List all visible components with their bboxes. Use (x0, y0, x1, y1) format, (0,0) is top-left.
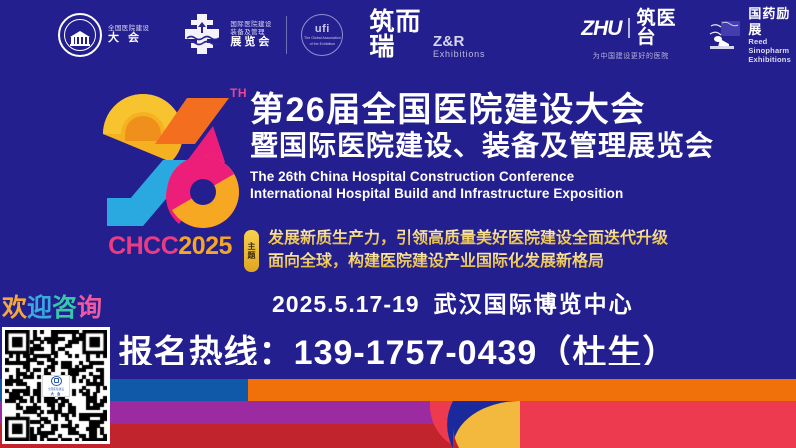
wordmark-chcc: CHCC (108, 232, 178, 260)
logo-conference-seal: 全国医院建设 大 会 (58, 13, 149, 57)
reed-en-label-2: Exhibitions (748, 55, 796, 64)
title-cn-secondary: 暨国际医院建设、装备及管理展览会 (250, 129, 790, 162)
title-en-line-1: The 26th China Hospital Construction Con… (250, 168, 790, 185)
theme-line-2: 面向全球，构建医院建设产业国际化发展新格局 (268, 251, 668, 274)
logo-reed-sinopharm: 国药励展 Reed Sinopharm Exhibitions (708, 6, 796, 64)
reed-cn-label: 国药励展 (748, 6, 796, 37)
title-block: 第26届全国医院建设大会 暨国际医院建设、装备及管理展览会 The 26th C… (250, 92, 790, 202)
theme-block: 主 题 发展新质生产力，引领高质量美好医院建设全面迭代升级 面向全球，构建医院建… (244, 228, 668, 273)
welcome-char-2: 迎 (27, 294, 52, 322)
logo-zhuyitai: ZHU 筑医台 为中国建设更好的医院 (581, 9, 680, 61)
emblem-wordmark: CHCC2025 (95, 232, 245, 261)
wordmark-year: 2025 (178, 232, 232, 260)
qr-logo-text-2: 大 会 (51, 391, 62, 396)
zr-en-label-1: Z&R (433, 34, 485, 50)
zhu-cn-label: 筑医台 (637, 9, 681, 47)
ufi-sub-label-2: of the Exhibition (310, 42, 336, 47)
flake-big-label: 展览会 (230, 36, 272, 49)
welcome-text: 欢迎咨询 (2, 296, 102, 321)
reed-sinopharm-icon (708, 20, 742, 50)
theme-badge-char-2: 题 (248, 251, 256, 260)
title-cn-primary: 第26届全国医院建设大会 (250, 92, 790, 129)
ufi-logo: ufi The Global Association of the Exhibi… (301, 14, 343, 56)
theme-line-1: 发展新质生产力，引领高质量美好医院建设全面迭代升级 (268, 228, 668, 251)
promo-banner: 全国医院建设 大 会 国际医院建设 装备及管理 展览会 (0, 0, 796, 448)
top-logo-strip: 全国医院建设 大 会 国际医院建设 装备及管理 展览会 (0, 0, 796, 70)
welcome-char-1: 欢 (2, 294, 27, 322)
anniversary-emblem: TH CHCC2025 (95, 86, 245, 261)
flake-small-label-1: 国际医院建设 (230, 21, 272, 28)
theme-badge-char-1: 主 (248, 242, 256, 251)
title-en-line-2: International Hospital Build and Infrast… (250, 185, 790, 202)
qr-code-icon[interactable]: 全国医院建设 大 会 (2, 327, 110, 444)
welcome-char-4: 询 (77, 294, 102, 322)
logo-zr-exhibitions: 筑而瑞 Z&R Exhibitions (369, 10, 485, 60)
seal-big-label: 大 会 (108, 32, 149, 45)
snowflake-cross-icon (179, 12, 225, 58)
emblem-superscript: TH (230, 86, 247, 100)
qr-consult-panel: 欢迎咨询 全国医院建设 大 会 (0, 296, 112, 448)
ufi-sub-label-1: The Global Association (304, 36, 341, 41)
qr-center-logo: 全国医院建设 大 会 (42, 375, 70, 397)
zr-en-label-2: Exhibitions (433, 50, 485, 59)
event-date-venue: 2025.5.17-19武汉国际博览中心 (272, 285, 634, 319)
event-venue: 武汉国际博览中心 (434, 291, 634, 317)
zhu-mark-label: ZHU (581, 18, 621, 39)
reed-en-label-1: Reed Sinopharm (748, 37, 796, 55)
bottom-color-bar (0, 365, 796, 448)
theme-badge: 主 题 (244, 230, 259, 272)
zhu-slogan-label: 为中国建设更好的医院 (593, 51, 669, 61)
emblem-26-graphic (95, 86, 245, 236)
main-content: TH CHCC2025 第26届全国医院建设大会 暨国际医院建设、装备及管理展览… (0, 70, 796, 365)
ufi-main-label: ufi (315, 24, 330, 35)
logo-divider-1 (286, 16, 287, 54)
event-date: 2025.5.17-19 (272, 291, 420, 317)
logo-expo-flake: 国际医院建设 装备及管理 展览会 (179, 12, 272, 58)
zhu-divider (628, 18, 629, 38)
building-seal-icon (58, 13, 102, 57)
zr-cn-label: 筑而瑞 (369, 10, 428, 60)
welcome-char-3: 咨 (52, 294, 77, 322)
